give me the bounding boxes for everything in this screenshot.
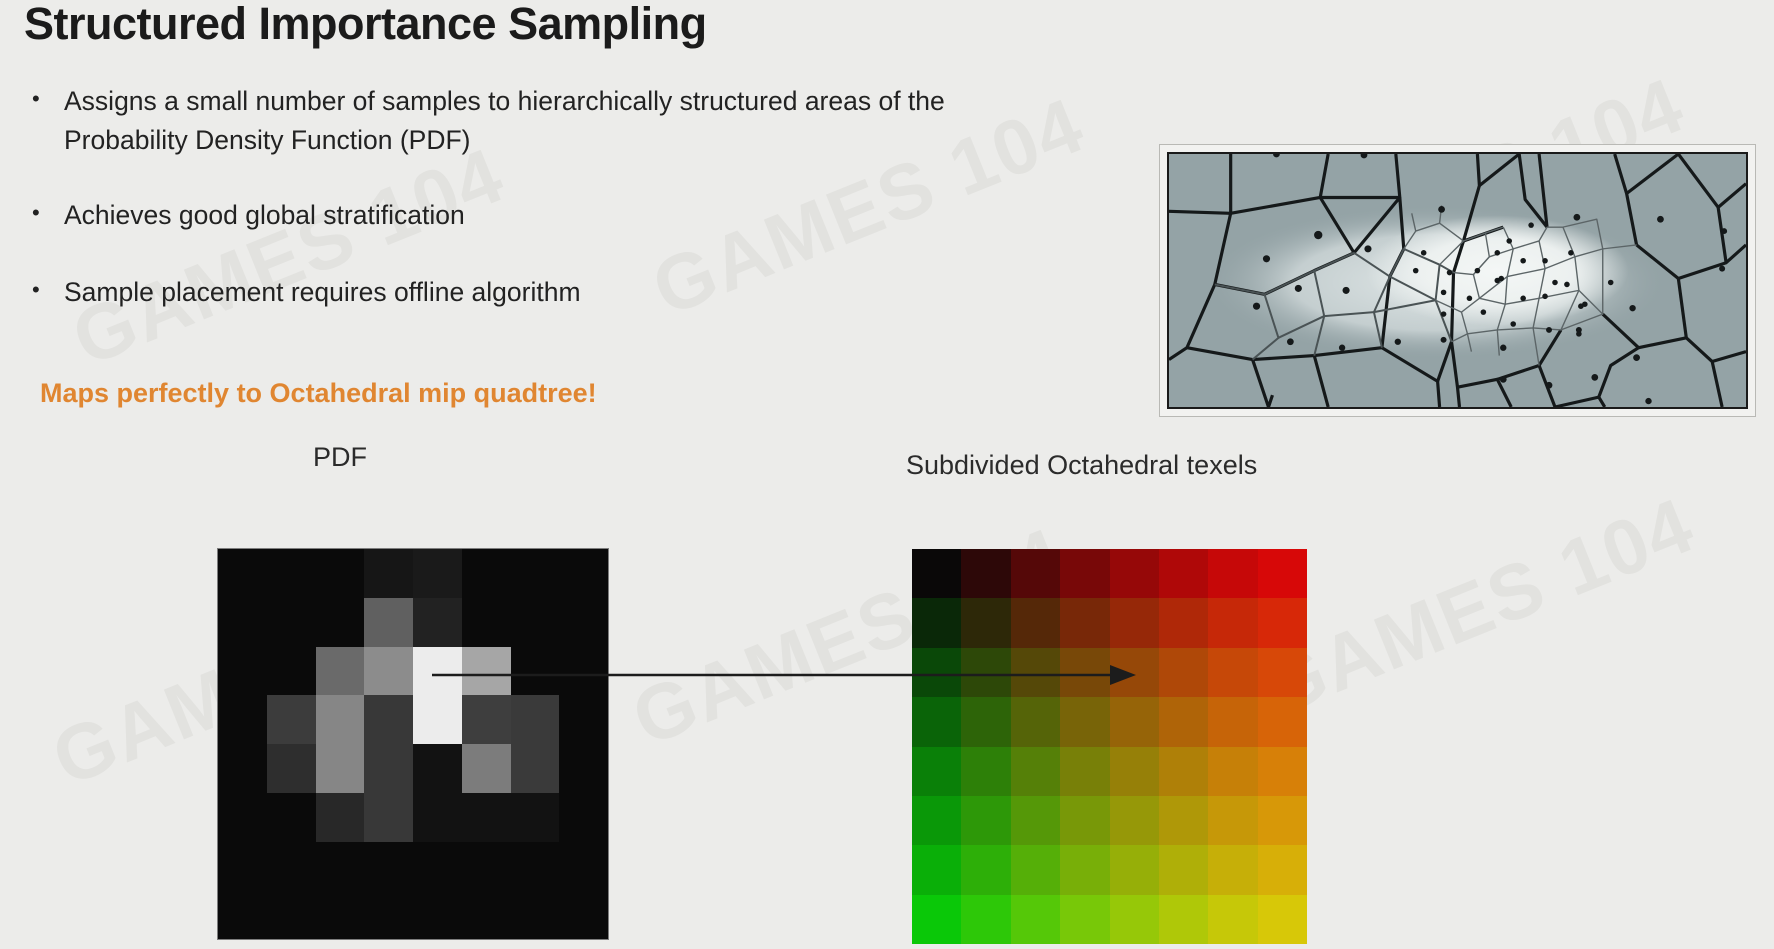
octahedral-texel [1208,796,1257,845]
pdf-texel [511,549,560,598]
octahedral-texel [961,697,1010,746]
pdf-texel [511,890,560,939]
octahedral-texel [1208,747,1257,796]
pdf-texel [559,549,608,598]
pdf-texel [218,598,267,647]
octahedral-texel [961,598,1010,647]
bullet-text: Sample placement requires offline algori… [64,273,581,312]
pdf-texel [559,695,608,744]
octahedral-texel [1110,845,1159,894]
octahedral-texel [961,895,1010,944]
octahedral-texel [912,895,961,944]
pdf-texel [462,695,511,744]
pdf-texel [511,695,560,744]
pdf-texel [511,744,560,793]
octahedral-texel [961,747,1010,796]
octahedral-texel [1060,796,1109,845]
watermark-text: GAMES 104 [1250,479,1707,734]
pdf-texel [462,890,511,939]
octahedral-texel [961,845,1010,894]
voronoi-figure-frame [1159,144,1756,417]
bullet-marker-icon: • [32,82,64,116]
bullet-marker-icon: • [32,273,64,307]
pdf-texel [218,647,267,696]
octahedral-texel [1110,796,1159,845]
pdf-texel [316,890,365,939]
octahedral-texel [1110,697,1159,746]
bullet-item: • Achieves good global stratification [32,196,465,235]
pdf-texel [267,695,316,744]
octahedral-texel [1060,598,1109,647]
octahedral-texel [1208,549,1257,598]
octahedral-texel [1060,845,1109,894]
octahedral-texel [1060,895,1109,944]
octahedral-texel [1060,697,1109,746]
pdf-texel [559,793,608,842]
octahedral-texel [1011,549,1060,598]
octahedral-texel [1159,697,1208,746]
voronoi-svg [1169,154,1746,407]
octahedral-texel [1011,895,1060,944]
octahedral-texel [1110,747,1159,796]
octahedral-texel [1159,796,1208,845]
slide-title: Structured Importance Sampling [24,0,707,50]
octahedral-texel [961,796,1010,845]
pdf-texel [316,549,365,598]
bullet-text: Assigns a small number of samples to hie… [64,82,1004,160]
octahedral-texel [912,747,961,796]
pdf-texel [364,549,413,598]
octahedral-texel [1258,796,1307,845]
octahedral-texel [1011,598,1060,647]
pdf-texel [413,890,462,939]
highlight-callout-text: Maps perfectly to Octahedral mip quadtre… [40,378,597,409]
octahedral-texel [1159,845,1208,894]
octahedral-texel [1258,549,1307,598]
octahedral-texel [1110,549,1159,598]
pdf-texel [364,842,413,891]
pdf-texel [559,598,608,647]
pdf-texel [218,842,267,891]
pdf-texture-grid [217,548,609,940]
octahedral-texel [1159,747,1208,796]
octahedral-texel [912,598,961,647]
octahedral-texel-grid [912,549,1307,944]
octahedral-texel [1060,747,1109,796]
octahedral-texel [1011,747,1060,796]
octahedral-texel [1208,895,1257,944]
bullet-item: • Assigns a small number of samples to h… [32,82,1004,160]
octahedral-texel [1159,549,1208,598]
octahedral-texel [912,697,961,746]
pdf-texel [559,842,608,891]
pdf-texel [413,793,462,842]
pdf-texel [462,744,511,793]
octahedral-texel [1258,648,1307,697]
octahedral-texel [912,549,961,598]
bullet-marker-icon: • [32,196,64,230]
pdf-texel [413,598,462,647]
pdf-texel [316,598,365,647]
pdf-texel [316,842,365,891]
pdf-texel [559,890,608,939]
pdf-texel [462,793,511,842]
octahedral-texel [1011,845,1060,894]
pdf-texel [364,647,413,696]
mapping-arrow-icon [430,650,1140,700]
pdf-texel [511,842,560,891]
pdf-texel [316,793,365,842]
pdf-texel [218,549,267,598]
pdf-texel [559,744,608,793]
octahedral-texel [1258,747,1307,796]
pdf-texel [364,793,413,842]
octahedral-texel [1060,549,1109,598]
pdf-texel [267,549,316,598]
pdf-texel [462,842,511,891]
pdf-texel [267,744,316,793]
watermark-text: GAMES 104 [60,129,517,384]
pdf-texel [364,695,413,744]
bullet-text: Achieves good global stratification [64,196,465,235]
pdf-texel [364,744,413,793]
pdf-texel [413,842,462,891]
octahedral-texel [1208,697,1257,746]
pdf-texel [316,647,365,696]
pdf-texel [316,695,365,744]
pdf-texel [267,890,316,939]
pdf-texel [462,549,511,598]
octahedral-texel [1258,598,1307,647]
octahedral-texel [1159,598,1208,647]
octahedral-texel [1011,697,1060,746]
pdf-texel [364,598,413,647]
octahedral-texel [1208,648,1257,697]
octahedral-texel [1110,598,1159,647]
slide: GAMES 104 GAMES 104 GAMES 104 GAMES 104 … [0,0,1774,949]
pdf-texel [511,598,560,647]
octahedral-texel [1208,598,1257,647]
pdf-texel [267,647,316,696]
octahedral-texel [1159,895,1208,944]
pdf-texel [364,890,413,939]
pdf-texel [267,842,316,891]
octahedral-texel [912,845,961,894]
pdf-texel [267,793,316,842]
bullet-item: • Sample placement requires offline algo… [32,273,581,312]
octahedral-texel [1258,845,1307,894]
octahedral-texel [912,796,961,845]
octahedral-texel [1110,895,1159,944]
pdf-texel [267,598,316,647]
octahedral-texel [1258,697,1307,746]
texel-figure-label: Subdivided Octahedral texels [906,450,1257,481]
voronoi-sampling-diagram [1167,152,1748,409]
pdf-texel [511,793,560,842]
pdf-texel [218,793,267,842]
pdf-texel [218,744,267,793]
pdf-texel [316,744,365,793]
pdf-texel [413,695,462,744]
pdf-texel [462,598,511,647]
octahedral-texel [1159,648,1208,697]
octahedral-texel [1258,895,1307,944]
octahedral-texel [961,549,1010,598]
octahedral-texel [1011,796,1060,845]
pdf-texel [218,695,267,744]
pdf-texel [413,549,462,598]
pdf-texel [413,744,462,793]
pdf-figure-label: PDF [313,442,367,473]
octahedral-texel [1208,845,1257,894]
pdf-texel [218,890,267,939]
